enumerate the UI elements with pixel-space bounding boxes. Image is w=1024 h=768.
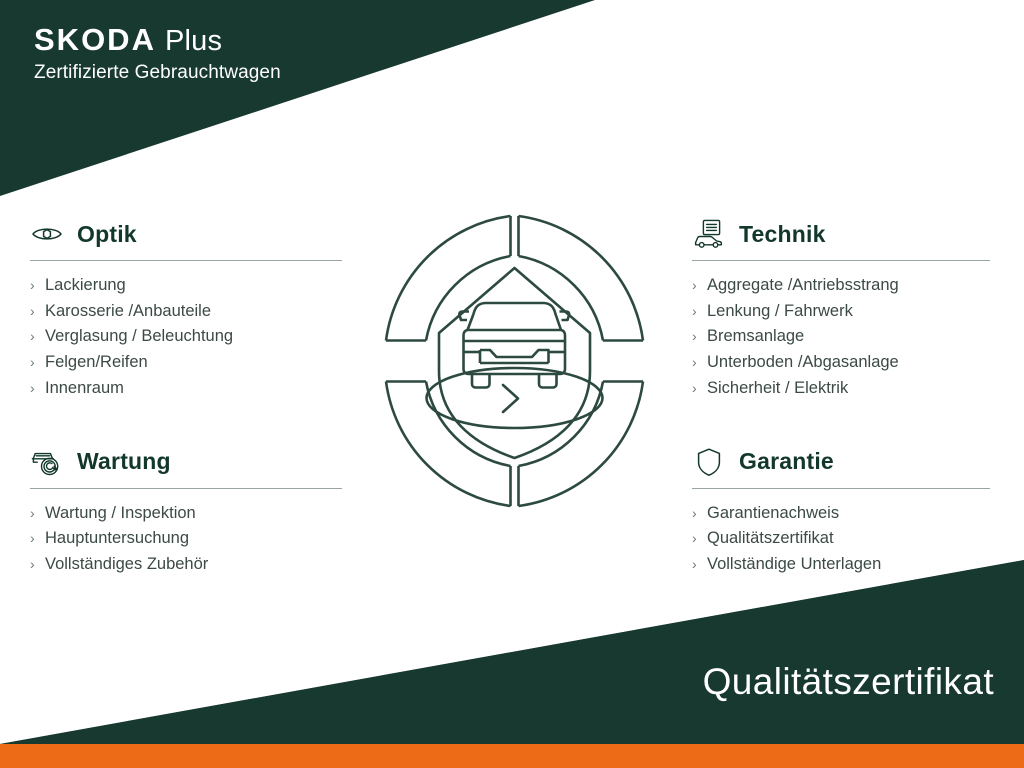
- section-optik-header: Optik: [30, 214, 342, 254]
- shield-icon: [692, 445, 726, 479]
- section-garantie-header: Garantie: [692, 442, 1004, 482]
- list-item: ›Lackierung: [30, 273, 342, 299]
- certificate-page: SKODA Plus Zertifizierte Gebrauchtwagen …: [0, 0, 1024, 768]
- list-item-label: Wartung / Inspektion: [45, 504, 196, 522]
- chevron-right-icon: ›: [30, 552, 35, 577]
- certified-vehicle-emblem: [372, 202, 657, 520]
- list-item: ›Verglasung / Beleuchtung: [30, 324, 342, 350]
- list-item: ›Garantienachweis: [692, 501, 1004, 527]
- chevron-right-icon: ›: [30, 273, 35, 298]
- chevron-right-icon: ›: [30, 324, 35, 349]
- chevron-right-icon: ›: [692, 350, 697, 375]
- list-item: ›Aggregate /Antriebsstrang: [692, 273, 1004, 299]
- chevron-right-icon: ›: [30, 376, 35, 401]
- list-item: ›Innenraum: [30, 376, 342, 402]
- emblem-orbit: [427, 368, 603, 428]
- chevron-right-icon: ›: [30, 501, 35, 526]
- section-optik: Optik ›Lackierung ›Karosserie /Anbauteil…: [30, 214, 342, 402]
- chevron-right-icon: ›: [692, 299, 697, 324]
- section-technik-title: Technik: [739, 223, 826, 246]
- eye-icon: [30, 217, 64, 251]
- list-item: ›Karosserie /Anbauteile: [30, 299, 342, 325]
- list-item-label: Lackierung: [45, 276, 126, 294]
- chevron-right-icon: ›: [30, 299, 35, 324]
- list-item: ›Lenkung / Fahrwerk: [692, 299, 1004, 325]
- list-item: ›Qualitätszertifikat: [692, 526, 1004, 552]
- list-item-label: Garantienachweis: [707, 504, 839, 522]
- chevron-right-icon: ›: [30, 526, 35, 551]
- section-technik: Technik ›Aggregate /Antriebsstrang ›Lenk…: [692, 214, 1004, 402]
- chevron-right-icon: ›: [692, 526, 697, 551]
- section-wartung-rule: [30, 488, 342, 489]
- list-item-label: Qualitätszertifikat: [707, 529, 834, 547]
- section-garantie-list: ›Garantienachweis ›Qualitätszertifikat ›…: [692, 501, 1004, 578]
- list-item-label: Unterboden /Abgasanlage: [707, 353, 899, 371]
- list-item-label: Felgen/Reifen: [45, 353, 148, 371]
- section-wartung-header: Wartung: [30, 442, 342, 482]
- list-item-label: Verglasung / Beleuchtung: [45, 327, 233, 345]
- chevron-right-icon: ›: [692, 501, 697, 526]
- left-column: Optik ›Lackierung ›Karosserie /Anbauteil…: [30, 214, 342, 578]
- list-item-label: Lenkung / Fahrwerk: [707, 302, 853, 320]
- car-service-icon: [30, 445, 64, 479]
- emblem-orbit-arrow: [503, 385, 518, 412]
- chevron-right-icon: ›: [692, 324, 697, 349]
- footer-title: Qualitätszertifikat: [0, 663, 994, 700]
- section-technik-header: Technik: [692, 214, 1004, 254]
- plus-wordmark: Plus: [165, 27, 222, 56]
- section-technik-list: ›Aggregate /Antriebsstrang ›Lenkung / Fa…: [692, 273, 1004, 402]
- section-wartung-title: Wartung: [77, 450, 171, 473]
- list-item-label: Bremsanlage: [707, 327, 804, 345]
- list-item: ›Vollständige Unterlagen: [692, 552, 1004, 578]
- chevron-right-icon: ›: [692, 376, 697, 401]
- list-item-label: Vollständiges Zubehör: [45, 555, 208, 573]
- emblem-car: [459, 303, 569, 388]
- emblem-outer-ring: [386, 216, 643, 506]
- section-garantie-rule: [692, 488, 990, 489]
- car-document-icon: [692, 217, 726, 251]
- list-item: ›Sicherheit / Elektrik: [692, 376, 1004, 402]
- section-wartung-list: ›Wartung / Inspektion ›Hauptuntersuchung…: [30, 501, 342, 578]
- list-item: ›Unterboden /Abgasanlage: [692, 350, 1004, 376]
- right-column: Technik ›Aggregate /Antriebsstrang ›Lenk…: [692, 214, 1004, 578]
- list-item-label: Sicherheit / Elektrik: [707, 379, 848, 397]
- skoda-wordmark: SKODA: [34, 24, 156, 55]
- section-technik-rule: [692, 260, 990, 261]
- list-item: ›Felgen/Reifen: [30, 350, 342, 376]
- brand-subtitle: Zertifizierte Gebrauchtwagen: [34, 63, 454, 84]
- section-optik-rule: [30, 260, 342, 261]
- list-item-label: Aggregate /Antriebsstrang: [707, 276, 899, 294]
- chevron-right-icon: ›: [692, 552, 697, 577]
- list-item: ›Hauptuntersuchung: [30, 526, 342, 552]
- chevron-right-icon: ›: [692, 273, 697, 298]
- section-garantie-title: Garantie: [739, 450, 834, 473]
- section-wartung: Wartung ›Wartung / Inspektion ›Hauptunte…: [30, 442, 342, 578]
- emblem-inner-ring: [426, 256, 603, 466]
- section-garantie: Garantie ›Garantienachweis ›Qualitätszer…: [692, 442, 1004, 578]
- list-item-label: Hauptuntersuchung: [45, 529, 189, 547]
- orange-accent-bar: [0, 744, 1024, 768]
- list-item-label: Karosserie /Anbauteile: [45, 302, 211, 320]
- section-optik-title: Optik: [77, 223, 137, 246]
- brand-lockup: SKODA Plus Zertifizierte Gebrauchtwagen: [34, 24, 454, 84]
- section-optik-list: ›Lackierung ›Karosserie /Anbauteile ›Ver…: [30, 273, 342, 402]
- list-item: ›Wartung / Inspektion: [30, 501, 342, 527]
- brand-name-row: SKODA Plus: [34, 24, 454, 56]
- list-item: ›Vollständiges Zubehör: [30, 552, 342, 578]
- chevron-right-icon: ›: [30, 350, 35, 375]
- list-item-label: Vollständige Unterlagen: [707, 555, 881, 573]
- list-item: ›Bremsanlage: [692, 324, 1004, 350]
- list-item-label: Innenraum: [45, 379, 124, 397]
